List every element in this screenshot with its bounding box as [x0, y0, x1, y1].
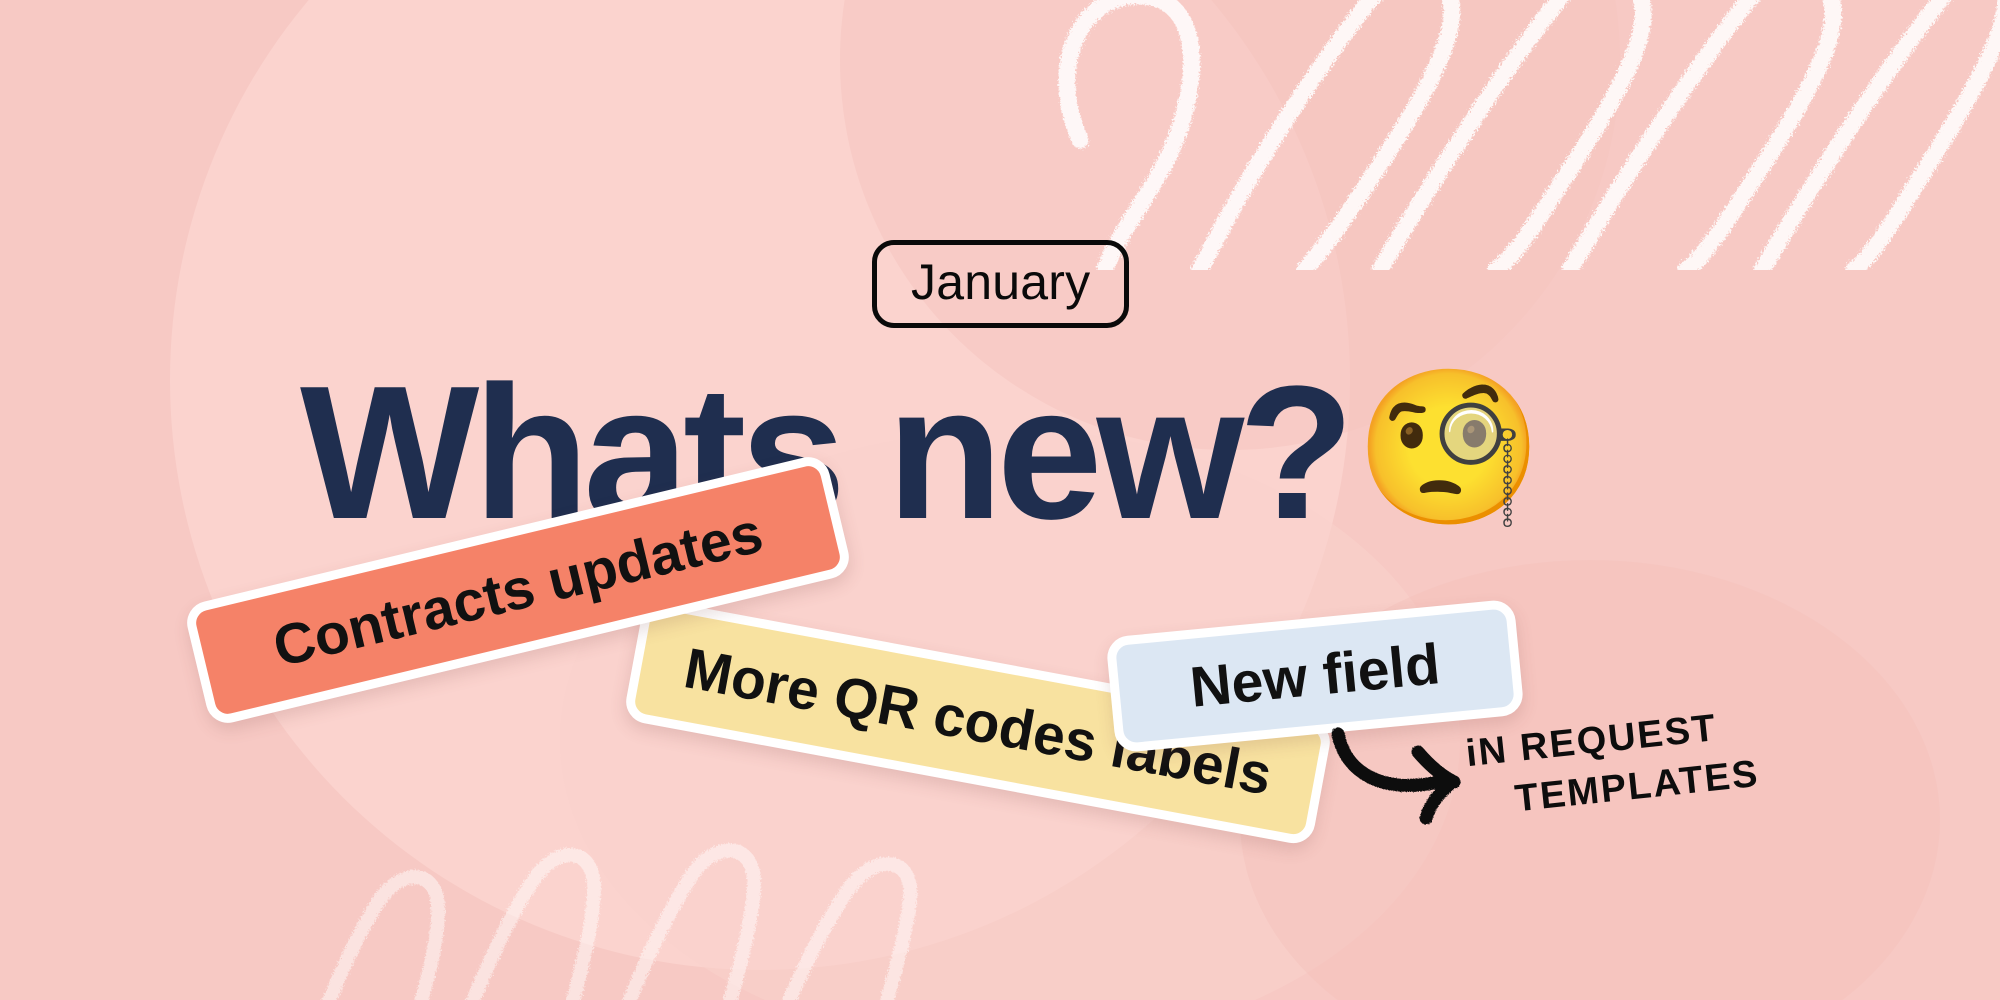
whats-new-banner: January Whats new? 🧐 Contracts updates M… — [0, 0, 2000, 1000]
month-badge[interactable]: January — [872, 240, 1129, 328]
chalk-scribble-icon — [1050, 0, 2000, 270]
chalk-scribble-icon — [250, 790, 990, 1000]
curved-arrow-right-icon — [1326, 722, 1486, 832]
monocle-face-emoji-icon: 🧐 — [1354, 372, 1543, 524]
callout-note: iN REQUEST TEMPLATES — [1464, 701, 1762, 828]
feature-tag-label: New field — [1188, 636, 1443, 717]
page-title: Whats new? 🧐 — [300, 358, 1544, 548]
